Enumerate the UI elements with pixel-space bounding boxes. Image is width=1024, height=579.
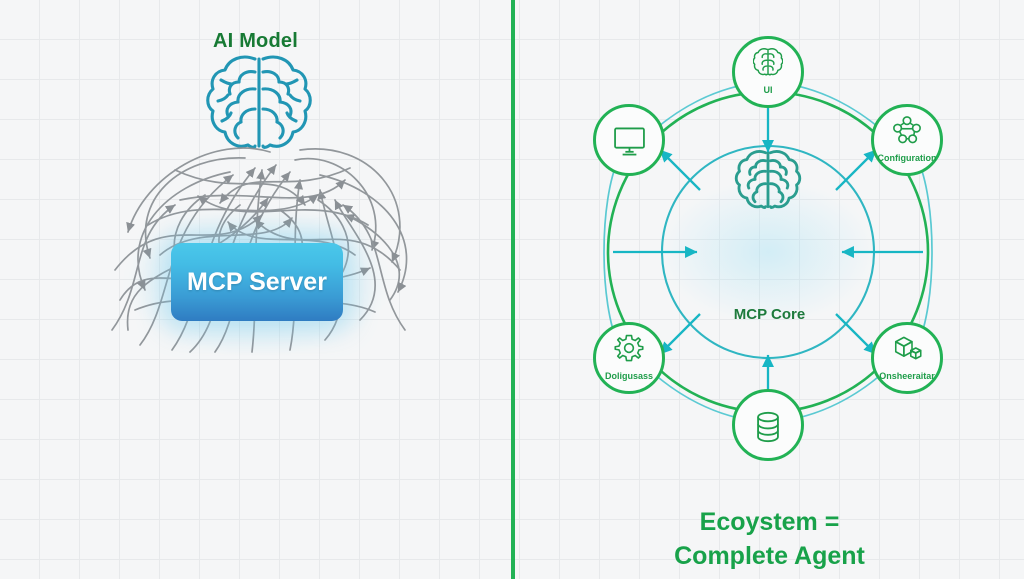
- node-orchestrator[interactable]: Onsheeraitar: [871, 322, 943, 394]
- mcp-server-box-left: MCP Server: [171, 243, 343, 321]
- mcp-server-box-left-label: MCP Server: [187, 268, 327, 297]
- brain-icon: [208, 57, 311, 147]
- cubes-icon: [874, 333, 940, 363]
- ecosystem-caption-line2: Complete Agent: [515, 539, 1024, 573]
- right-panel-ecosystem: UI Configuration: [515, 0, 1024, 579]
- mcp-core-label: MCP Core: [515, 306, 1024, 323]
- node-ui[interactable]: UI: [732, 36, 804, 108]
- node-settings[interactable]: Doligusass: [593, 322, 665, 394]
- node-database[interactable]: [732, 389, 804, 461]
- node-configuration-label: Configuration: [861, 153, 953, 163]
- monitor-icon: [596, 126, 662, 157]
- node-settings-label: Doligusass: [583, 371, 675, 381]
- brain-icon: [736, 152, 800, 208]
- brain-icon: [735, 47, 801, 77]
- node-orchestrator-label: Onsheeraitar: [861, 371, 953, 381]
- node-display[interactable]: [593, 104, 665, 176]
- left-panel-chaos: AI Model: [0, 0, 511, 579]
- gear-icon: [596, 333, 662, 363]
- panel-divider: [511, 0, 515, 579]
- node-ui-label: UI: [722, 85, 814, 95]
- node-configuration[interactable]: Configuration: [871, 104, 943, 176]
- database-icon: [735, 410, 801, 444]
- ecosystem-caption: Ecoystem = Complete Agent: [515, 505, 1024, 573]
- ecosystem-caption-line1: Ecoystem =: [515, 505, 1024, 539]
- network-icon: [874, 115, 940, 145]
